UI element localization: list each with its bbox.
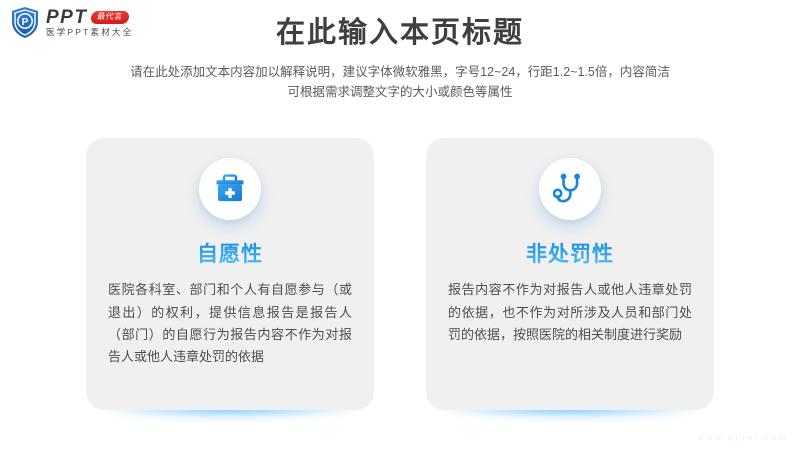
card-text: 报告内容不作为对报告人或他人违章处罚的依据，也不作为对所涉及人员和部门处罚的依据…: [448, 279, 692, 346]
page-subtitle-line-2: 可根据需求调整文字的大小或颜色等属性: [0, 82, 800, 102]
watermark: www.ppter.com: [698, 432, 788, 442]
card-body-voluntary: 自愿性 医院各科室、部门和个人有自愿参与（或退出）的权利，提供信息报告是报告人（…: [86, 138, 374, 410]
card-voluntary[interactable]: 自愿性 医院各科室、部门和个人有自愿参与（或退出）的权利，提供信息报告是报告人（…: [86, 138, 374, 410]
card-heading: 非处罚性: [526, 242, 614, 267]
cards-container: 自愿性 医院各科室、部门和个人有自愿参与（或退出）的权利，提供信息报告是报告人（…: [0, 138, 800, 410]
card-text: 医院各科室、部门和个人有自愿参与（或退出）的权利，提供信息报告是报告人（部门）的…: [108, 279, 352, 368]
page-title: 在此输入本页标题: [0, 17, 800, 50]
card-heading: 自愿性: [197, 242, 263, 267]
page-subtitle-line-1: 请在此处添加文本内容加以解释说明，建议字体微软雅黑，字号12~24，行距1.2~…: [0, 62, 800, 82]
medical-kit-icon: [199, 158, 261, 220]
page-subtitle: 请在此处添加文本内容加以解释说明，建议字体微软雅黑，字号12~24，行距1.2~…: [0, 62, 800, 103]
stethoscope-icon: [539, 158, 601, 220]
card-non-punitive[interactable]: 非处罚性 报告内容不作为对报告人或他人违章处罚的依据，也不作为对所涉及人员和部门…: [426, 138, 714, 410]
card-body-non-punitive: 非处罚性 报告内容不作为对报告人或他人违章处罚的依据，也不作为对所涉及人员和部门…: [426, 138, 714, 410]
